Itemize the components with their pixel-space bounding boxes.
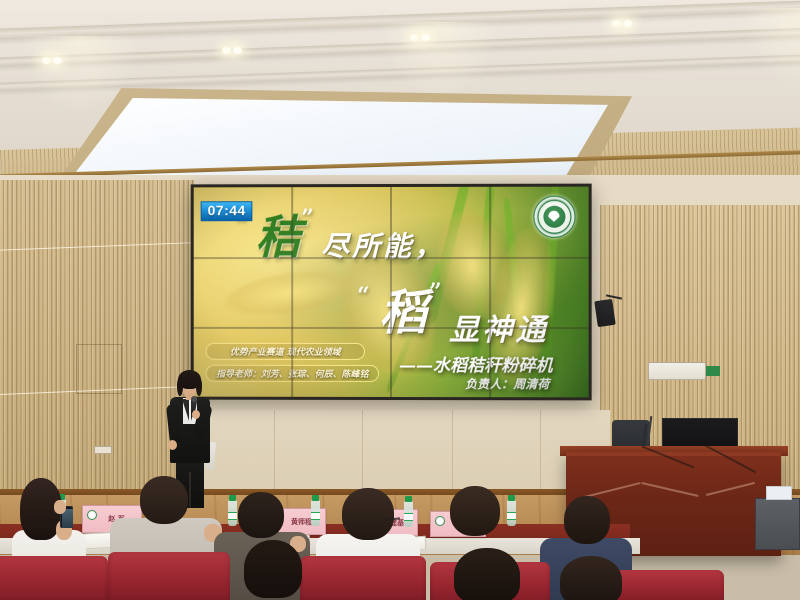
slide-quote-close-1: ” [301,205,314,231]
audience-head [450,486,500,536]
ceiling-downlight-icon [222,47,231,54]
presenter-hand [192,410,200,419]
video-wall[interactable]: “ 秸 ” 尽所能， “ 稻 ” 显神通 优势产业赛道 现代农业领域 指导老师：… [191,184,592,401]
video-wall-seam [489,187,491,397]
presenter-hair [178,370,201,389]
video-wall-seam [390,187,391,397]
rice-ear-decor [221,264,355,322]
wall-access-panel [76,344,122,394]
microphone-head-icon [191,396,197,402]
podium-trim [706,482,755,496]
ceiling-downlight-icon [53,57,62,64]
slide-quote-open-2: “ [357,283,370,309]
ceiling-downlight-icon [623,20,632,27]
ceiling-downlight-icon [612,20,621,27]
presentation-slide: “ 秸 ” 尽所能， “ 稻 ” 显神通 优势产业赛道 现代农业领域 指导老师：… [194,187,589,398]
ceiling-downlight-icon [42,57,51,64]
countdown-timer: 07:44 [201,201,253,221]
audience-head [244,540,302,598]
audience-head [564,496,610,544]
wall-outlet [94,446,112,454]
audience-member [440,548,536,600]
presenter-hand [168,440,177,450]
video-wall-seam [194,327,589,329]
audience-head [454,548,520,600]
slide-leader-subtitle: 负责人：周清荷 [465,375,549,392]
wall-speaker [594,299,615,327]
video-wall-seam [194,257,589,259]
conference-hall-scene: “ 秸 ” 尽所能， “ 稻 ” 显神通 优势产业赛道 现代农业领域 指导老师：… [0,0,800,600]
ceiling-downlight-icon [421,34,430,41]
slide-tag-track: 优势产业赛道 现代农业领域 [206,343,365,360]
emblem-core [543,206,565,228]
audience-head [560,556,622,600]
podium-trim [642,482,699,497]
audience-head [140,476,188,524]
exit-sign-icon [706,366,720,376]
university-emblem-icon [533,196,575,238]
ceiling-downlight-icon [233,47,242,54]
slide-title-rest-1: 尽所能， [321,225,445,265]
equipment-box [766,486,792,500]
slide-title-char-2: 稻 [379,273,430,343]
auditorium-seat [300,556,426,600]
wall-hairline [0,242,194,251]
audience-head [342,488,394,540]
slide-project-subtitle: ——水稻秸秆粉碎机 [399,351,552,376]
audience-member [228,540,318,600]
audience-member [548,556,638,600]
audience-hand [54,500,66,514]
video-wall-seam [291,187,292,397]
audience-head [238,492,284,538]
auditorium-seat [0,556,108,600]
auditorium-seat [108,552,230,600]
presenter-lapel [182,399,189,421]
slide-quote-close-2: ” [429,279,442,305]
namecard-emblem-icon [87,510,97,520]
wall-control-box [648,362,706,380]
ceiling-downlight-icon [410,34,419,41]
equipment-cart [755,498,800,550]
